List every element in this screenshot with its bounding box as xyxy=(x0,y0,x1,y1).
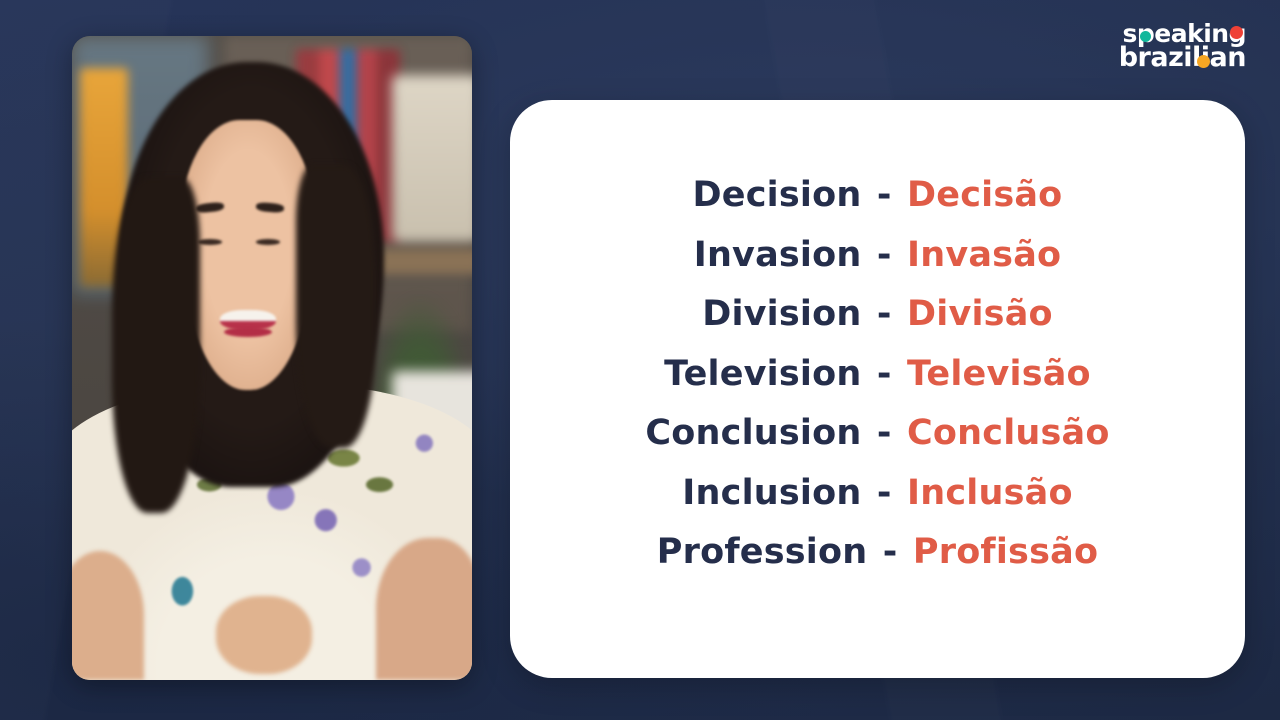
logo-line-brazilian: brazilian xyxy=(1119,46,1246,71)
word-separator: - xyxy=(874,175,895,215)
logo-teal-dot-icon xyxy=(1140,31,1151,42)
word-english: Invasion xyxy=(694,235,862,275)
word-separator: - xyxy=(880,532,901,572)
word-portuguese: Invasão xyxy=(907,235,1061,275)
word-separator: - xyxy=(874,473,895,513)
speaker-eye-left xyxy=(198,239,222,245)
word-english: Inclusion xyxy=(682,473,861,513)
word-pair-row: Division - Divisão xyxy=(702,288,1053,341)
word-portuguese: Inclusão xyxy=(907,473,1073,513)
brand-logo: speaking brazilian xyxy=(1119,22,1246,71)
video-storage-boxes xyxy=(392,75,472,242)
word-portuguese: Conclusão xyxy=(907,413,1110,453)
word-separator: - xyxy=(874,235,895,275)
logo-red-dot-icon xyxy=(1230,26,1243,39)
word-separator: - xyxy=(874,294,895,334)
logo-orange-dot-icon xyxy=(1197,55,1210,68)
speaker-video-panel xyxy=(72,36,472,680)
word-english: Division xyxy=(702,294,861,334)
word-pair-row: Invasion - Invasão xyxy=(694,229,1062,282)
speaker-hands xyxy=(216,596,312,673)
word-portuguese: Decisão xyxy=(907,175,1062,215)
word-pair-row: Profession - Profissão xyxy=(657,526,1098,579)
word-english: Decision xyxy=(693,175,862,215)
word-portuguese: Televisão xyxy=(907,354,1091,394)
word-pair-row: Inclusion - Inclusão xyxy=(682,467,1072,520)
word-english: Profession xyxy=(657,532,868,572)
speaker-eye-right xyxy=(256,239,280,245)
speaker-arm-right xyxy=(376,538,472,680)
word-portuguese: Profissão xyxy=(913,532,1098,572)
speaker-hair-left-strand xyxy=(112,178,200,513)
word-pair-row: Decision - Decisão xyxy=(693,169,1063,222)
word-pair-row: Conclusion - Conclusão xyxy=(645,407,1109,460)
word-pair-list: Decision - DecisãoInvasion - InvasãoDivi… xyxy=(510,169,1245,609)
vocabulary-card: Decision - DecisãoInvasion - InvasãoDivi… xyxy=(510,100,1245,678)
word-english: Television xyxy=(664,354,861,394)
word-english: Conclusion xyxy=(645,413,861,453)
word-pair-row: Television - Televisão xyxy=(664,348,1091,401)
speaker-hair-right-strand xyxy=(296,165,376,448)
word-separator: - xyxy=(874,413,895,453)
word-separator: - xyxy=(874,354,895,394)
logo-text-brazilian: brazilian xyxy=(1119,42,1246,73)
word-portuguese: Divisão xyxy=(907,294,1053,334)
